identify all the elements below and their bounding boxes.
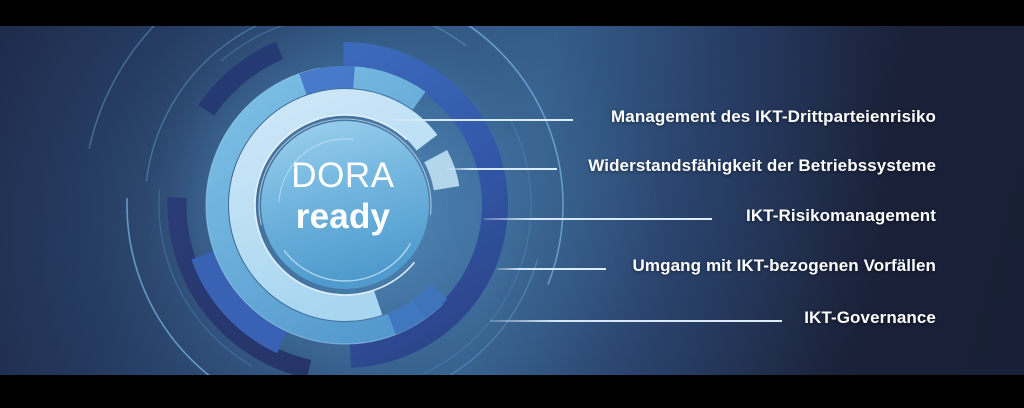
letterbox-top-bar bbox=[0, 0, 1024, 26]
leader-line-governance bbox=[490, 320, 782, 322]
center-text-line1: DORA bbox=[243, 155, 443, 196]
leader-line-third-party-risk bbox=[390, 119, 573, 121]
center-text-block: DORA ready bbox=[243, 155, 443, 238]
dora-infographic: Management des IKT-Drittparteienrisiko W… bbox=[0, 0, 1024, 408]
callout-label-operational-resilience: Widerstandsfähigkeit der Betriebssysteme bbox=[588, 156, 936, 176]
callout-label-governance: IKT-Governance bbox=[804, 308, 936, 328]
center-text-line2: ready bbox=[243, 196, 443, 237]
callout-label-third-party-risk: Management des IKT-Drittparteienrisiko bbox=[611, 107, 936, 127]
letterbox-bottom-bar bbox=[0, 375, 1024, 408]
leader-line-incident-handling bbox=[497, 268, 606, 270]
callout-label-risk-management: IKT-Risikomanagement bbox=[746, 206, 936, 226]
callout-label-incident-handling: Umgang mit IKT-bezogenen Vorfällen bbox=[633, 256, 936, 276]
leader-line-risk-management bbox=[484, 218, 712, 220]
leader-line-operational-resilience bbox=[447, 168, 557, 170]
